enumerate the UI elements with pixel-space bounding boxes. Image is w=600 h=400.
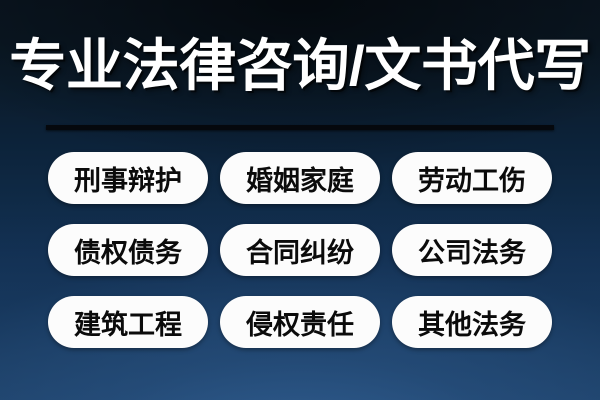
poster-canvas: 专业法律咨询/文书代写 刑事辩护 婚姻家庭 劳动工伤 债权债务 合同纠纷 公司法… [0,0,600,400]
service-pill[interactable]: 合同纠纷 [220,224,380,276]
title-divider [46,125,554,130]
page-title: 专业法律咨询/文书代写 [0,34,600,98]
service-pill[interactable]: 侵权责任 [220,296,380,348]
service-pill[interactable]: 其他法务 [392,296,552,348]
service-pill-grid: 刑事辩护 婚姻家庭 劳动工伤 债权债务 合同纠纷 公司法务 建筑工程 侵权责任 … [48,152,552,348]
service-pill[interactable]: 刑事辩护 [48,152,208,204]
service-pill[interactable]: 债权债务 [48,224,208,276]
service-row: 债权债务 合同纠纷 公司法务 [48,224,552,276]
service-row: 建筑工程 侵权责任 其他法务 [48,296,552,348]
service-row: 刑事辩护 婚姻家庭 劳动工伤 [48,152,552,204]
service-pill[interactable]: 婚姻家庭 [220,152,380,204]
service-pill[interactable]: 劳动工伤 [392,152,552,204]
service-pill[interactable]: 建筑工程 [48,296,208,348]
service-pill[interactable]: 公司法务 [392,224,552,276]
